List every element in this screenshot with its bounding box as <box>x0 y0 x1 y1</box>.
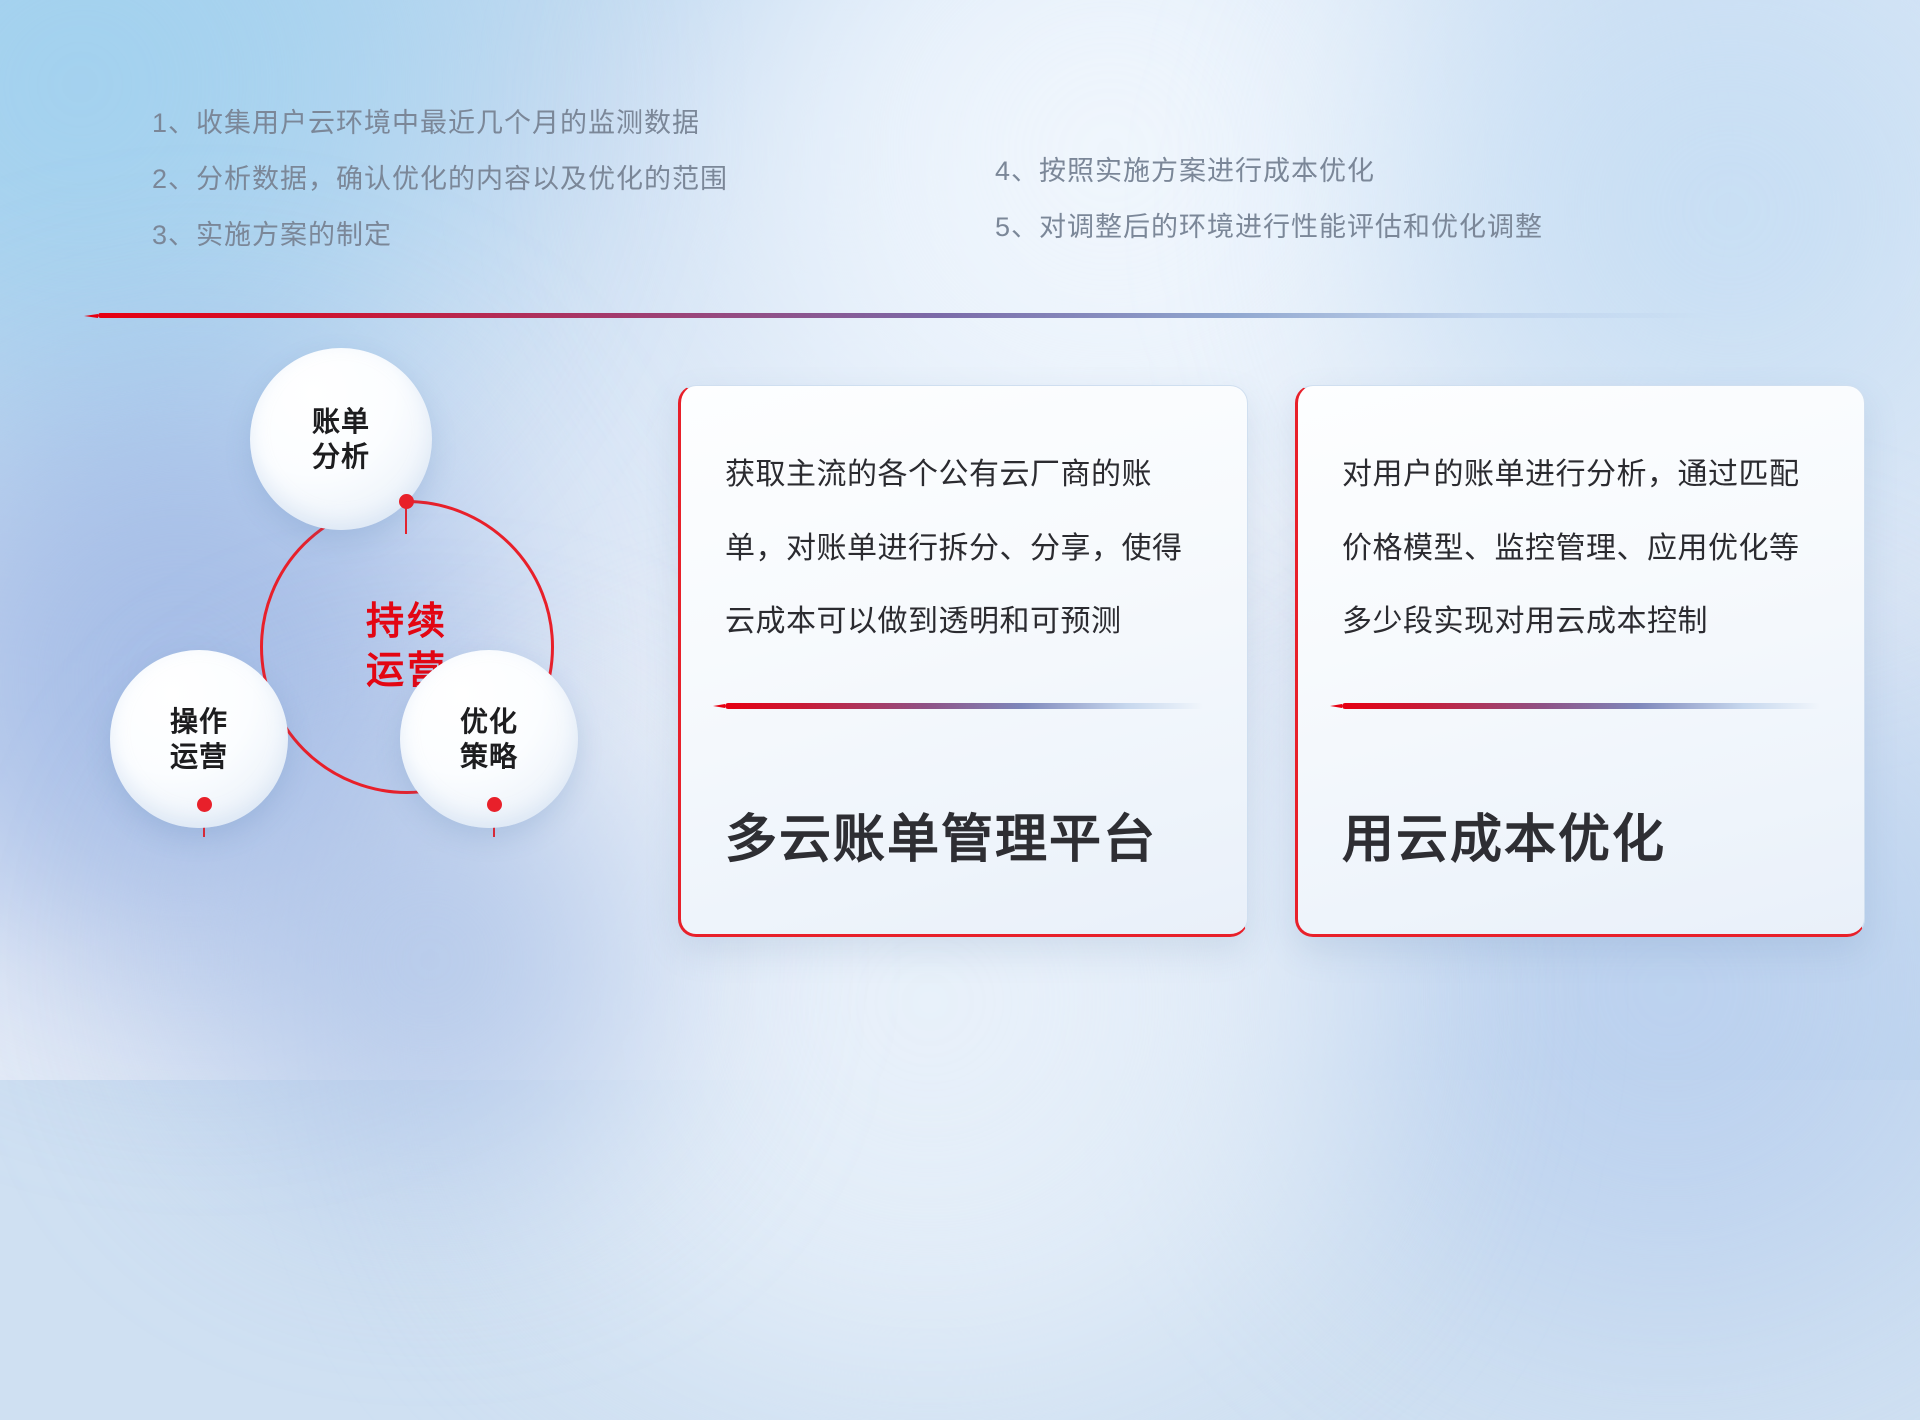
step-item-4: 4、按照实施方案进行成本优化 <box>995 143 1815 199</box>
diagram-node-optimization-strategy-line-2: 策略 <box>460 739 518 774</box>
info-card-divider <box>725 703 1203 709</box>
steps-list-left: 1、收集用户云环境中最近几个月的监测数据 2、分析数据，确认优化的内容以及优化的… <box>152 95 932 263</box>
diagram-node-bill-analysis-line-2: 分析 <box>312 439 370 474</box>
cycle-diagram: 持续 运营 账单 分析 操作 运营 优化 策略 <box>110 348 650 933</box>
diagram-dot-top <box>399 494 414 509</box>
diagram-center-line-1: 持续 <box>366 598 448 647</box>
info-card-title: 用云成本优化 <box>1342 797 1820 934</box>
info-card-body: 获取主流的各个公有云厂商的账单，对账单进行拆分、分享，使得云成本可以做到透明和可… <box>725 438 1203 659</box>
step-item-5: 5、对调整后的环境进行性能评估和优化调整 <box>995 199 1815 255</box>
info-card-body: 对用户的账单进行分析，通过匹配价格模型、监控管理、应用优化等多少段实现对用云成本… <box>1342 438 1820 659</box>
diagram-dot-bottom-right <box>487 797 502 812</box>
info-card-divider <box>1342 703 1820 709</box>
info-card-multi-cloud-billing[interactable]: 获取主流的各个公有云厂商的账单，对账单进行拆分、分享，使得云成本可以做到透明和可… <box>678 385 1248 937</box>
diagram-node-operations-line-2: 运营 <box>170 739 228 774</box>
diagram-dot-bottom-left <box>197 797 212 812</box>
diagram-node-bill-analysis-line-1: 账单 <box>312 404 370 439</box>
info-card-title: 多云账单管理平台 <box>725 797 1203 934</box>
section-divider-rule <box>98 313 1710 318</box>
step-item-1: 1、收集用户云环境中最近几个月的监测数据 <box>152 95 932 151</box>
step-item-2: 2、分析数据，确认优化的内容以及优化的范围 <box>152 151 932 207</box>
step-item-3: 3、实施方案的制定 <box>152 207 932 263</box>
diagram-node-optimization-strategy-line-1: 优化 <box>460 704 518 739</box>
diagram-node-operations-line-1: 操作 <box>170 704 228 739</box>
steps-list-right: 4、按照实施方案进行成本优化 5、对调整后的环境进行性能评估和优化调整 <box>995 143 1815 255</box>
info-card-cloud-cost-optimization[interactable]: 对用户的账单进行分析，通过匹配价格模型、监控管理、应用优化等多少段实现对用云成本… <box>1295 385 1865 937</box>
